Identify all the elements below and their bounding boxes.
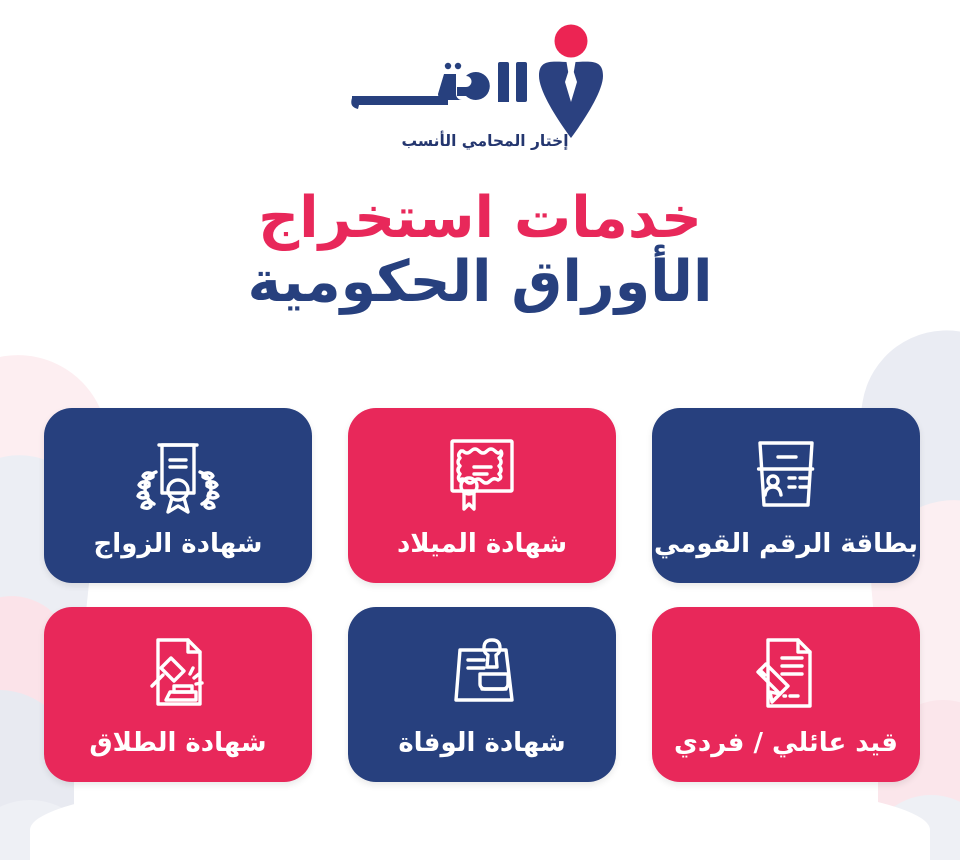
logo-tagline: إختار المحامي الأنسب — [370, 132, 600, 150]
service-card-family-record[interactable]: قيد عائلي / فردي — [652, 607, 920, 782]
divorce-document-gavel-icon — [126, 628, 230, 720]
person-location-pin-logo-icon — [536, 24, 606, 140]
death-certificate-stamp-icon — [430, 628, 534, 720]
page-title: خدمات استخراج الأوراق الحكومية — [0, 186, 960, 315]
service-card-label: شهادة الوفاة — [398, 728, 565, 758]
brand-logo: إختار المحامي الأنسب — [0, 14, 960, 164]
service-card-label: شهادة الزواج — [94, 529, 263, 559]
infographic-page: إختار المحامي الأنسب خدمات استخراج الأور… — [0, 0, 960, 860]
birth-certificate-ribbon-icon — [430, 429, 534, 521]
service-card-label: شهادة الميلاد — [397, 529, 567, 559]
family-record-pen-document-icon — [734, 628, 838, 720]
service-card-death-certificate[interactable]: شهادة الوفاة — [348, 607, 616, 782]
service-card-divorce-certificate[interactable]: شهادة الطلاق — [44, 607, 312, 782]
service-card-birth-certificate[interactable]: شهادة الميلاد — [348, 408, 616, 583]
service-card-label: شهادة الطلاق — [89, 728, 266, 758]
national-id-card-icon — [734, 429, 838, 521]
service-card-label: قيد عائلي / فردي — [674, 728, 898, 758]
service-card-national-id[interactable]: بطاقة الرقم القومي — [652, 408, 920, 583]
service-card-label: بطاقة الرقم القومي — [654, 529, 918, 559]
marriage-certificate-wreath-icon — [126, 429, 230, 521]
page-title-line-1: خدمات استخراج — [0, 186, 960, 250]
service-card-marriage-certificate[interactable]: شهادة الزواج — [44, 408, 312, 583]
page-title-line-2: الأوراق الحكومية — [0, 250, 960, 314]
logo-wordmark — [348, 58, 538, 114]
service-cards-grid: شهادة الزواج شهادة الميلاد — [44, 408, 920, 782]
